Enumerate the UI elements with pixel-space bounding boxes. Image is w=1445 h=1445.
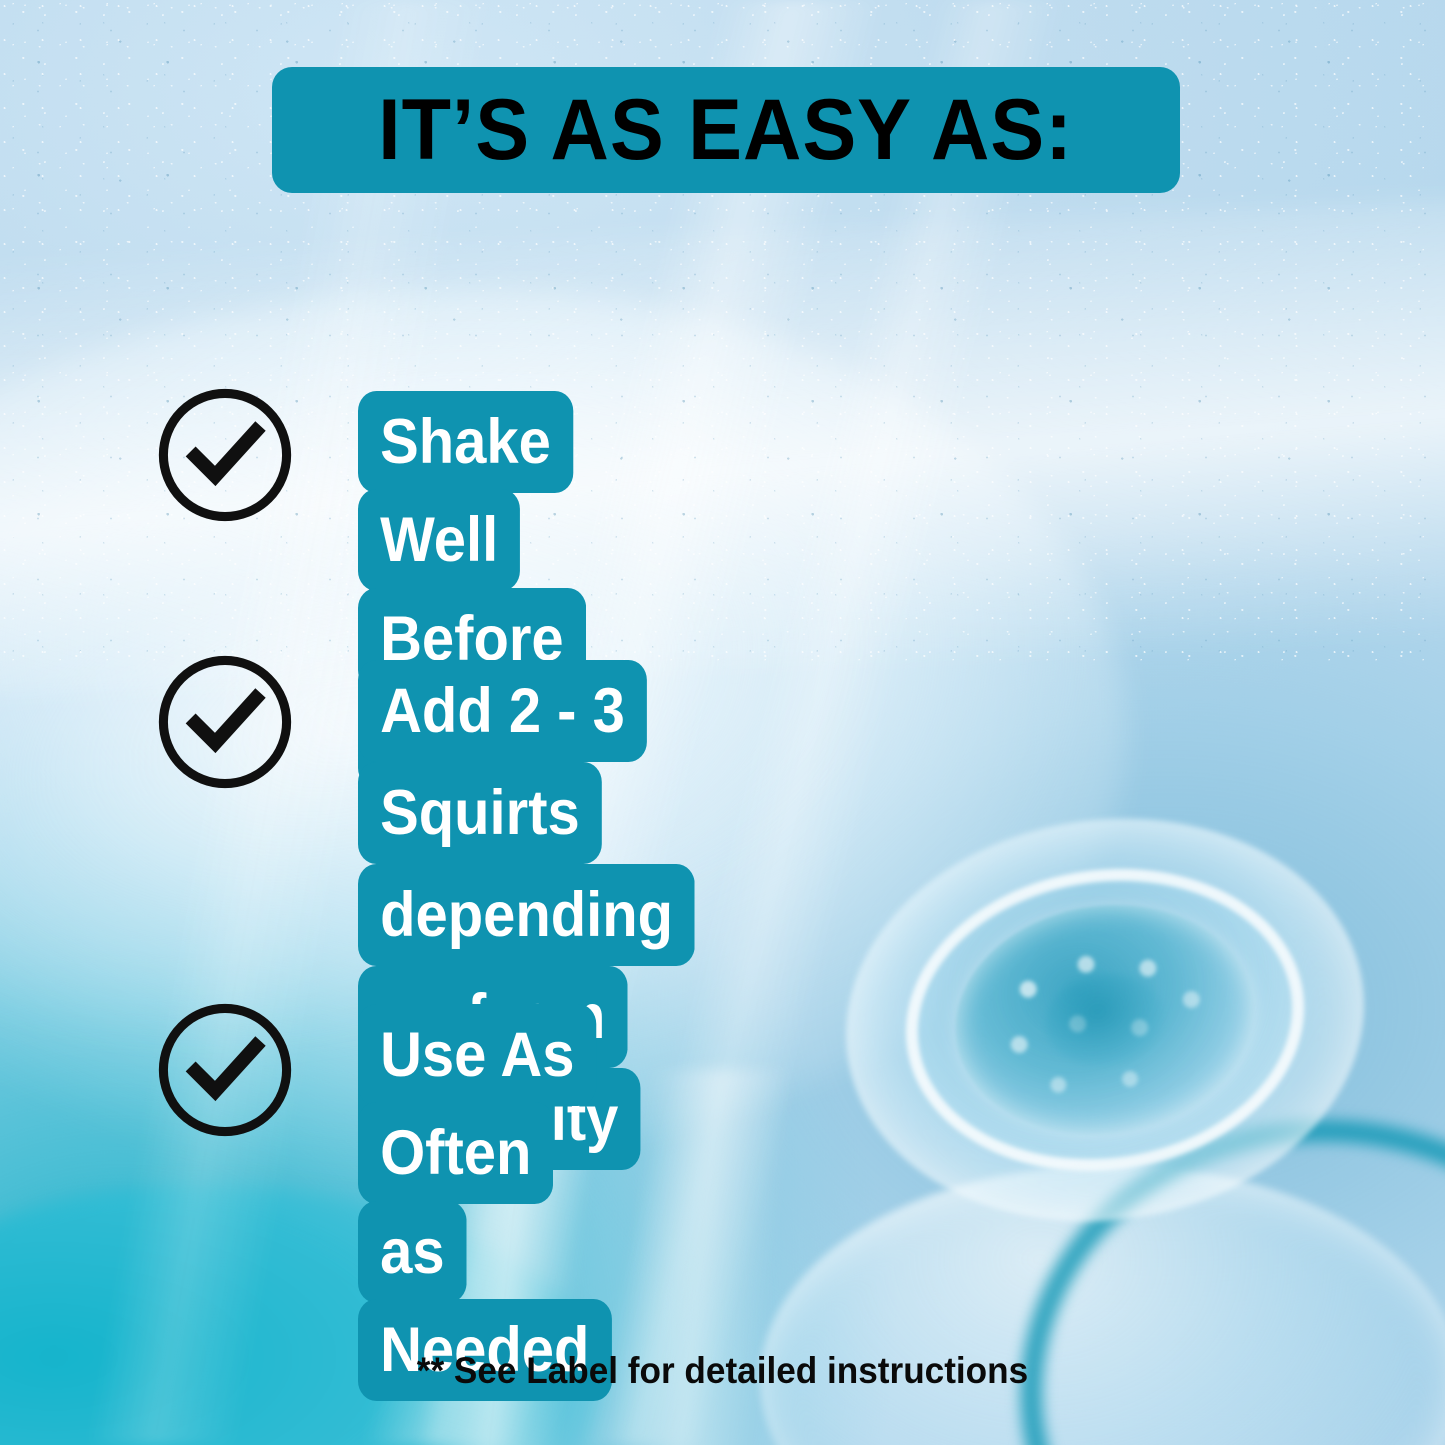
- step-text-3: Use As Often as Needed: [358, 1006, 612, 1399]
- step-item-3: Use As Often as Needed: [155, 1000, 634, 1399]
- content-layer: IT’S AS EASY AS: Shake Well Before use: [0, 0, 1445, 1445]
- step-text-wrapper-3: Use As Often as Needed: [358, 1000, 634, 1399]
- check-circle-icon: [155, 385, 295, 525]
- check-circle-icon: [155, 652, 295, 792]
- promo-graphic: IT’S AS EASY AS: Shake Well Before use: [0, 0, 1445, 1445]
- check-circle-icon: [155, 1000, 295, 1140]
- page-title: IT’S AS EASY AS:: [379, 87, 1074, 173]
- footnote-text: ** See Label for detailed instructions: [36, 1352, 1409, 1389]
- header-banner: IT’S AS EASY AS:: [272, 67, 1180, 193]
- step-label-3: Use As Often as Needed: [358, 1004, 612, 1401]
